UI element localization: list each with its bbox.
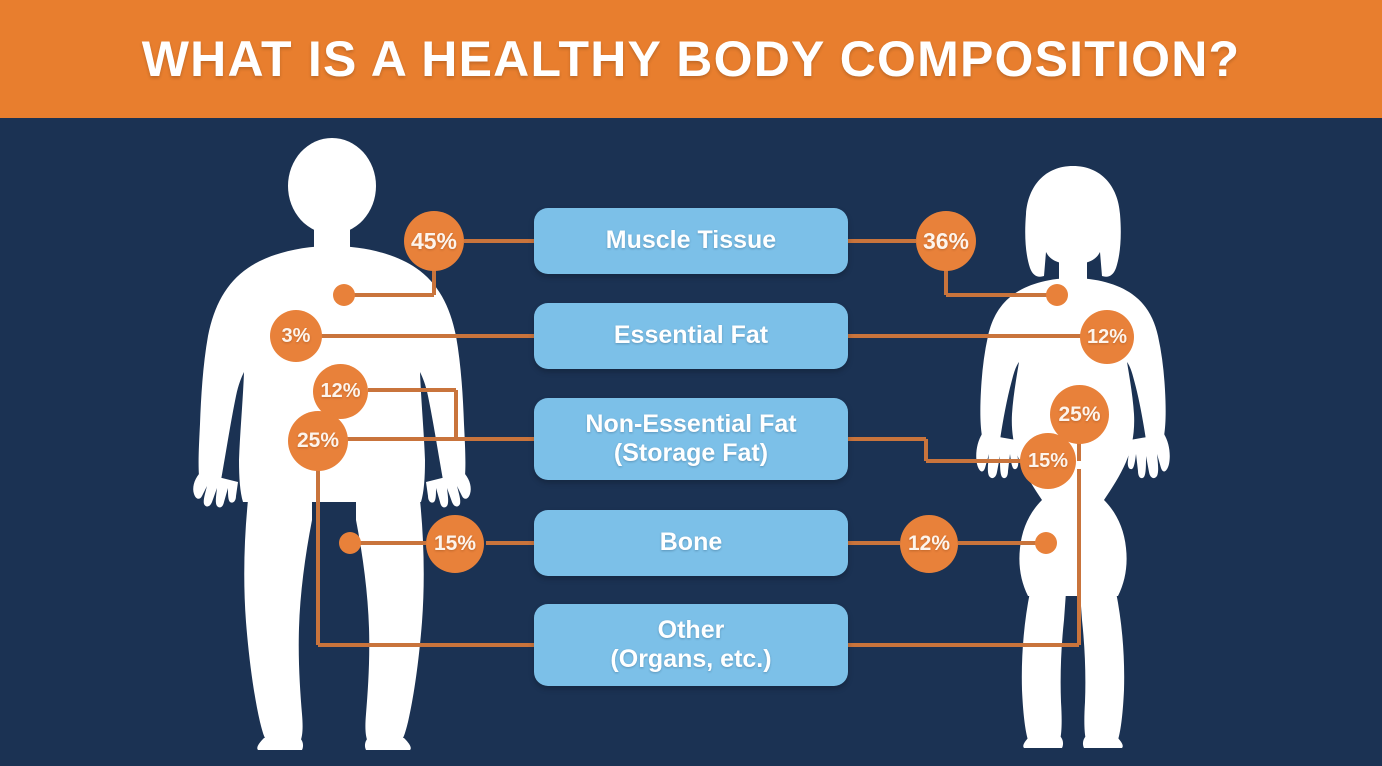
label-text-line2: (Storage Fat) [614,439,768,469]
infographic-root: WHAT IS A HEALTHY BODY COMPOSITION? [0,0,1382,766]
badge-female-bone[interactable]: 12% [900,515,958,573]
label-box-essential-fat[interactable]: Essential Fat [534,303,848,369]
badge-male-muscle-tissue[interactable]: 45% [404,211,464,271]
badge-male-storage-total[interactable]: 25% [288,411,348,471]
dot-male-chest [333,284,355,306]
dot-male-thigh [339,532,361,554]
label-text: Bone [660,528,723,558]
label-text: Muscle Tissue [606,226,776,256]
badge-male-bone[interactable]: 15% [426,515,484,573]
label-box-non-essential-fat[interactable]: Non-Essential Fat (Storage Fat) [534,398,848,480]
badge-female-muscle-tissue[interactable]: 36% [916,211,976,271]
badge-female-essential-fat[interactable]: 12% [1080,310,1134,364]
label-text-line1: Other [658,616,725,646]
dot-female-thigh [1035,532,1057,554]
badge-female-storage-secondary[interactable]: 15% [1020,433,1076,489]
label-box-bone[interactable]: Bone [534,510,848,576]
label-text-line1: Non-Essential Fat [585,410,796,440]
label-text: Essential Fat [614,321,768,351]
label-text-line2: (Organs, etc.) [610,645,771,675]
badge-male-essential-fat[interactable]: 3% [270,310,322,362]
label-box-muscle-tissue[interactable]: Muscle Tissue [534,208,848,274]
label-box-other[interactable]: Other (Organs, etc.) [534,604,848,686]
dot-female-chest [1046,284,1068,306]
